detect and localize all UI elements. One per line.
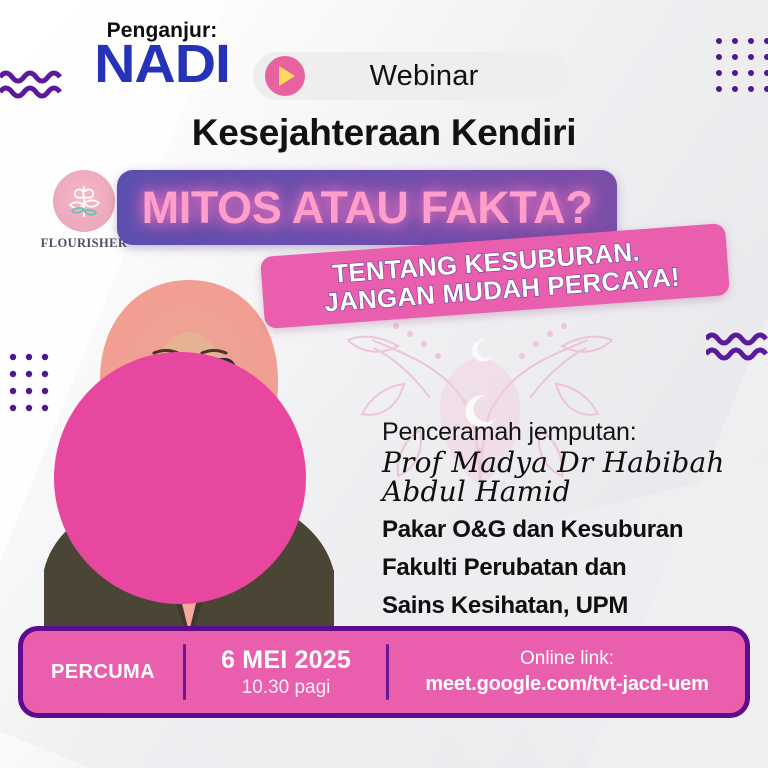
link-cell: Online link: meet.google.com/tvt-jacd-ue…	[389, 648, 745, 696]
online-link-url[interactable]: meet.google.com/tvt-jacd-uem	[425, 673, 708, 696]
webinar-label: Webinar	[305, 60, 569, 93]
dot-grid-decoration-icon-topright	[714, 36, 768, 94]
photo-backdrop-circle	[54, 352, 306, 604]
page-subtitle: Kesejahteraan Kendiri	[0, 112, 768, 154]
price-cell: PERCUMA	[23, 661, 183, 684]
poster-canvas: Penganjur: NADI Webinar Kesejahteraan Ke…	[0, 0, 768, 768]
speaker-name-line-2: Abdul Hamid	[382, 478, 768, 507]
webinar-badge: Webinar	[253, 52, 569, 100]
event-info-bar: PERCUMA 6 MEI 2025 10.30 pagi Online lin…	[18, 626, 750, 718]
headline-banner: MITOS ATAU FAKTA?	[117, 170, 617, 245]
speaker-name-line-1: Prof Madya Dr Habibah	[382, 449, 768, 478]
organizer-block: Penganjur: NADI	[62, 20, 262, 90]
speaker-role-line-2: Fakulti Perubatan dan	[382, 552, 768, 583]
headline-text: MITOS ATAU FAKTA?	[142, 182, 593, 234]
speaker-info-block: Penceramah jemputan: Prof Madya Dr Habib…	[382, 418, 768, 621]
online-link-label: Online link:	[520, 648, 614, 670]
speaker-intro-label: Penceramah jemputan:	[382, 418, 768, 448]
date-cell: 6 MEI 2025 10.30 pagi	[186, 646, 386, 699]
speaker-role-line-3: Sains Kesihatan, UPM	[382, 590, 768, 621]
flower-glyph	[61, 178, 107, 224]
event-time: 10.30 pagi	[242, 677, 331, 699]
play-icon	[265, 56, 305, 96]
wave-decoration-icon-right	[706, 330, 768, 364]
wave-decoration-icon	[0, 68, 64, 102]
flower-logo-icon	[53, 170, 115, 232]
speaker-role-line-1: Pakar O&G dan Kesuburan	[382, 514, 768, 545]
organizer-logo-nadi: NADI	[56, 40, 268, 90]
price-label: PERCUMA	[51, 661, 155, 684]
event-date: 6 MEI 2025	[221, 646, 351, 675]
